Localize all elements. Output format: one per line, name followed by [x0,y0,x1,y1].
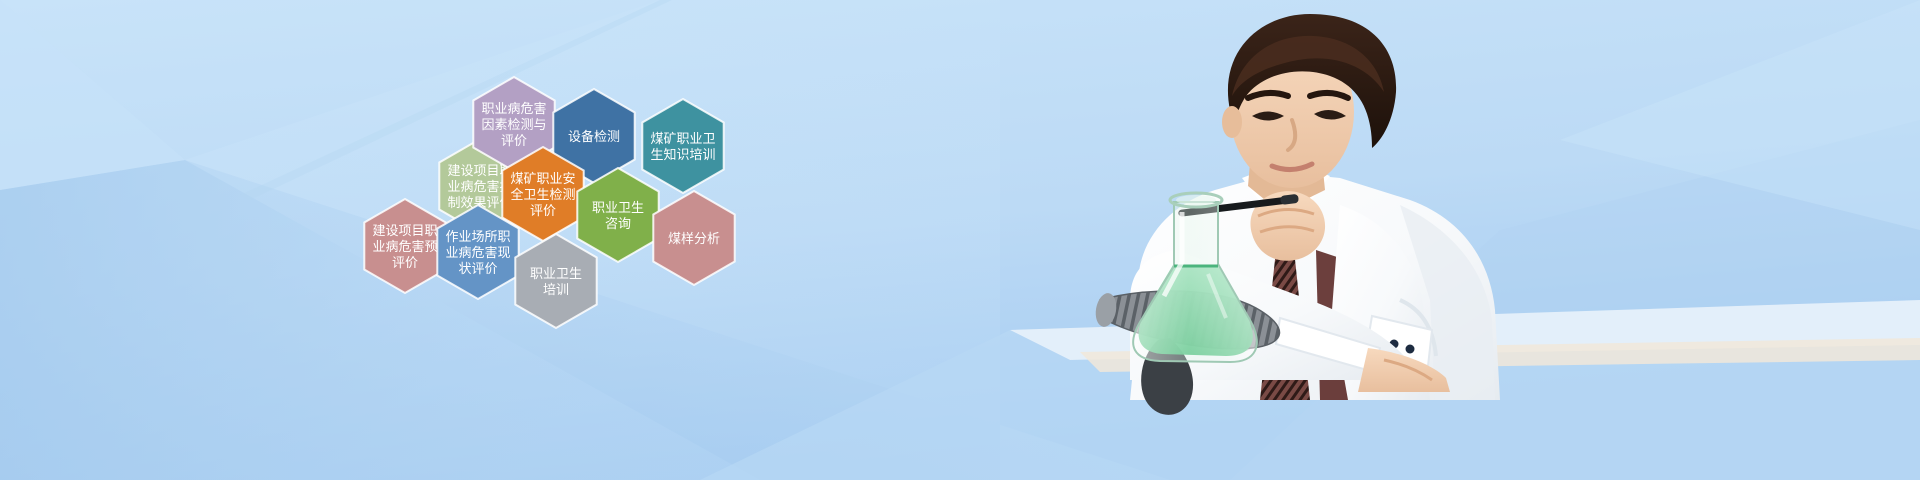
hexagon-pre-evaluation[interactable]: 建设项目职业病危害预评价 [364,199,445,293]
hexagon-label: 煤样分析 [668,231,720,246]
hexagon-label: 煤矿职业卫生知识培训 [650,131,715,162]
hexagon-shape [577,168,658,262]
hexagon-shape [515,234,596,328]
hexagon-coal-mine-knowledge-training[interactable]: 煤矿职业卫生知识培训 [642,99,723,193]
banner-root: 建设项目职业病危害预评价建设项目职业病危害控制效果评价职业病危害因素检测与评价设… [0,0,1920,480]
photo-businessman-with-flask [980,0,1920,480]
hexagon-coal-sample-analysis[interactable]: 煤样分析 [653,191,734,285]
hexagon-shape [642,99,723,193]
hexagon-label: 设备检测 [568,129,620,144]
hexagon-occupational-health-training[interactable]: 职业卫生培训 [515,234,596,328]
hexagon-occupational-health-consulting[interactable]: 职业卫生咨询 [577,168,658,262]
